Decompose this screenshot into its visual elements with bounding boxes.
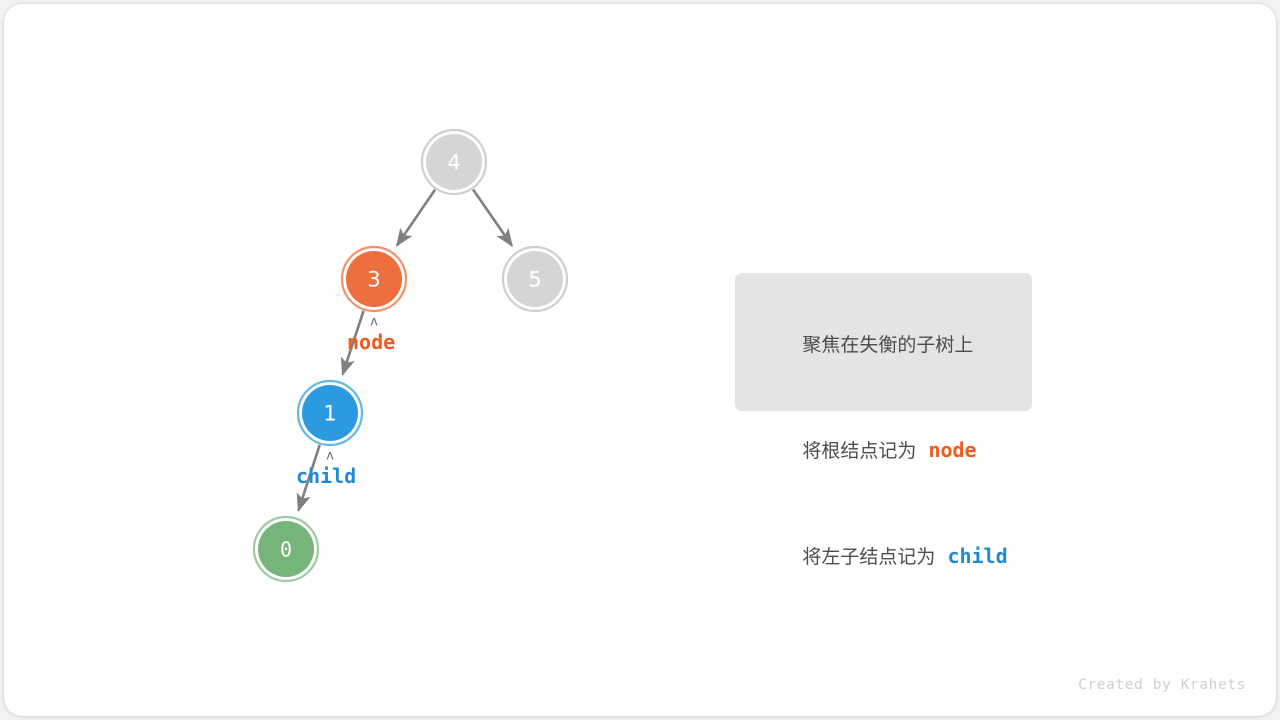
node-value-label: 4 — [447, 151, 460, 175]
annotation-box: 聚焦在失衡的子树上 将根结点记为 node 将左子结点记为 child — [735, 273, 1032, 411]
pointer-caret-icon: ʌ — [326, 449, 334, 464]
tree-node-3[interactable]: 3 — [342, 247, 406, 311]
credit-text: Created by Krahets — [1078, 677, 1246, 693]
tree-edge — [473, 190, 512, 246]
nodes-layer: 43510 — [254, 130, 567, 581]
tree-node-5[interactable]: 5 — [503, 247, 567, 311]
annotation-line-2: 将根结点记为 node — [754, 398, 1032, 504]
annotation-line-3: 将左子结点记为 child — [754, 504, 1032, 610]
figure-card: 43510 ʌnodeʌchild 聚焦在失衡的子树上 将根结点记为 node … — [4, 4, 1276, 716]
pointer-caret-icon: ʌ — [370, 315, 378, 330]
annotation-line-1-text: 聚焦在失衡的子树上 — [802, 334, 973, 356]
pointer-label-text: node — [347, 330, 395, 354]
tree-node-1[interactable]: 1 — [298, 381, 362, 445]
annotation-line-2-prefix: 将根结点记为 — [802, 440, 916, 462]
pointer-node: ʌnode — [347, 315, 395, 355]
tree-node-0[interactable]: 0 — [254, 517, 318, 581]
tree-node-4[interactable]: 4 — [422, 130, 486, 194]
tree-diagram: 43510 ʌnodeʌchild — [4, 4, 1276, 716]
node-value-label: 1 — [323, 402, 336, 426]
node-value-label: 5 — [528, 268, 541, 292]
annotation-line-3-prefix: 将左子结点记为 — [802, 546, 935, 568]
annotation-line-1: 聚焦在失衡的子树上 — [754, 293, 1032, 398]
tree-edge — [397, 190, 435, 246]
pointer-label-text: child — [296, 464, 356, 488]
annotation-code-child: child — [947, 544, 1007, 568]
node-value-label: 3 — [367, 268, 380, 292]
annotation-code-node: node — [928, 438, 976, 462]
screenshot-stage: 43510 ʌnodeʌchild 聚焦在失衡的子树上 将根结点记为 node … — [0, 0, 1280, 720]
node-value-label: 0 — [280, 538, 292, 562]
pointer-child: ʌchild — [296, 449, 356, 489]
